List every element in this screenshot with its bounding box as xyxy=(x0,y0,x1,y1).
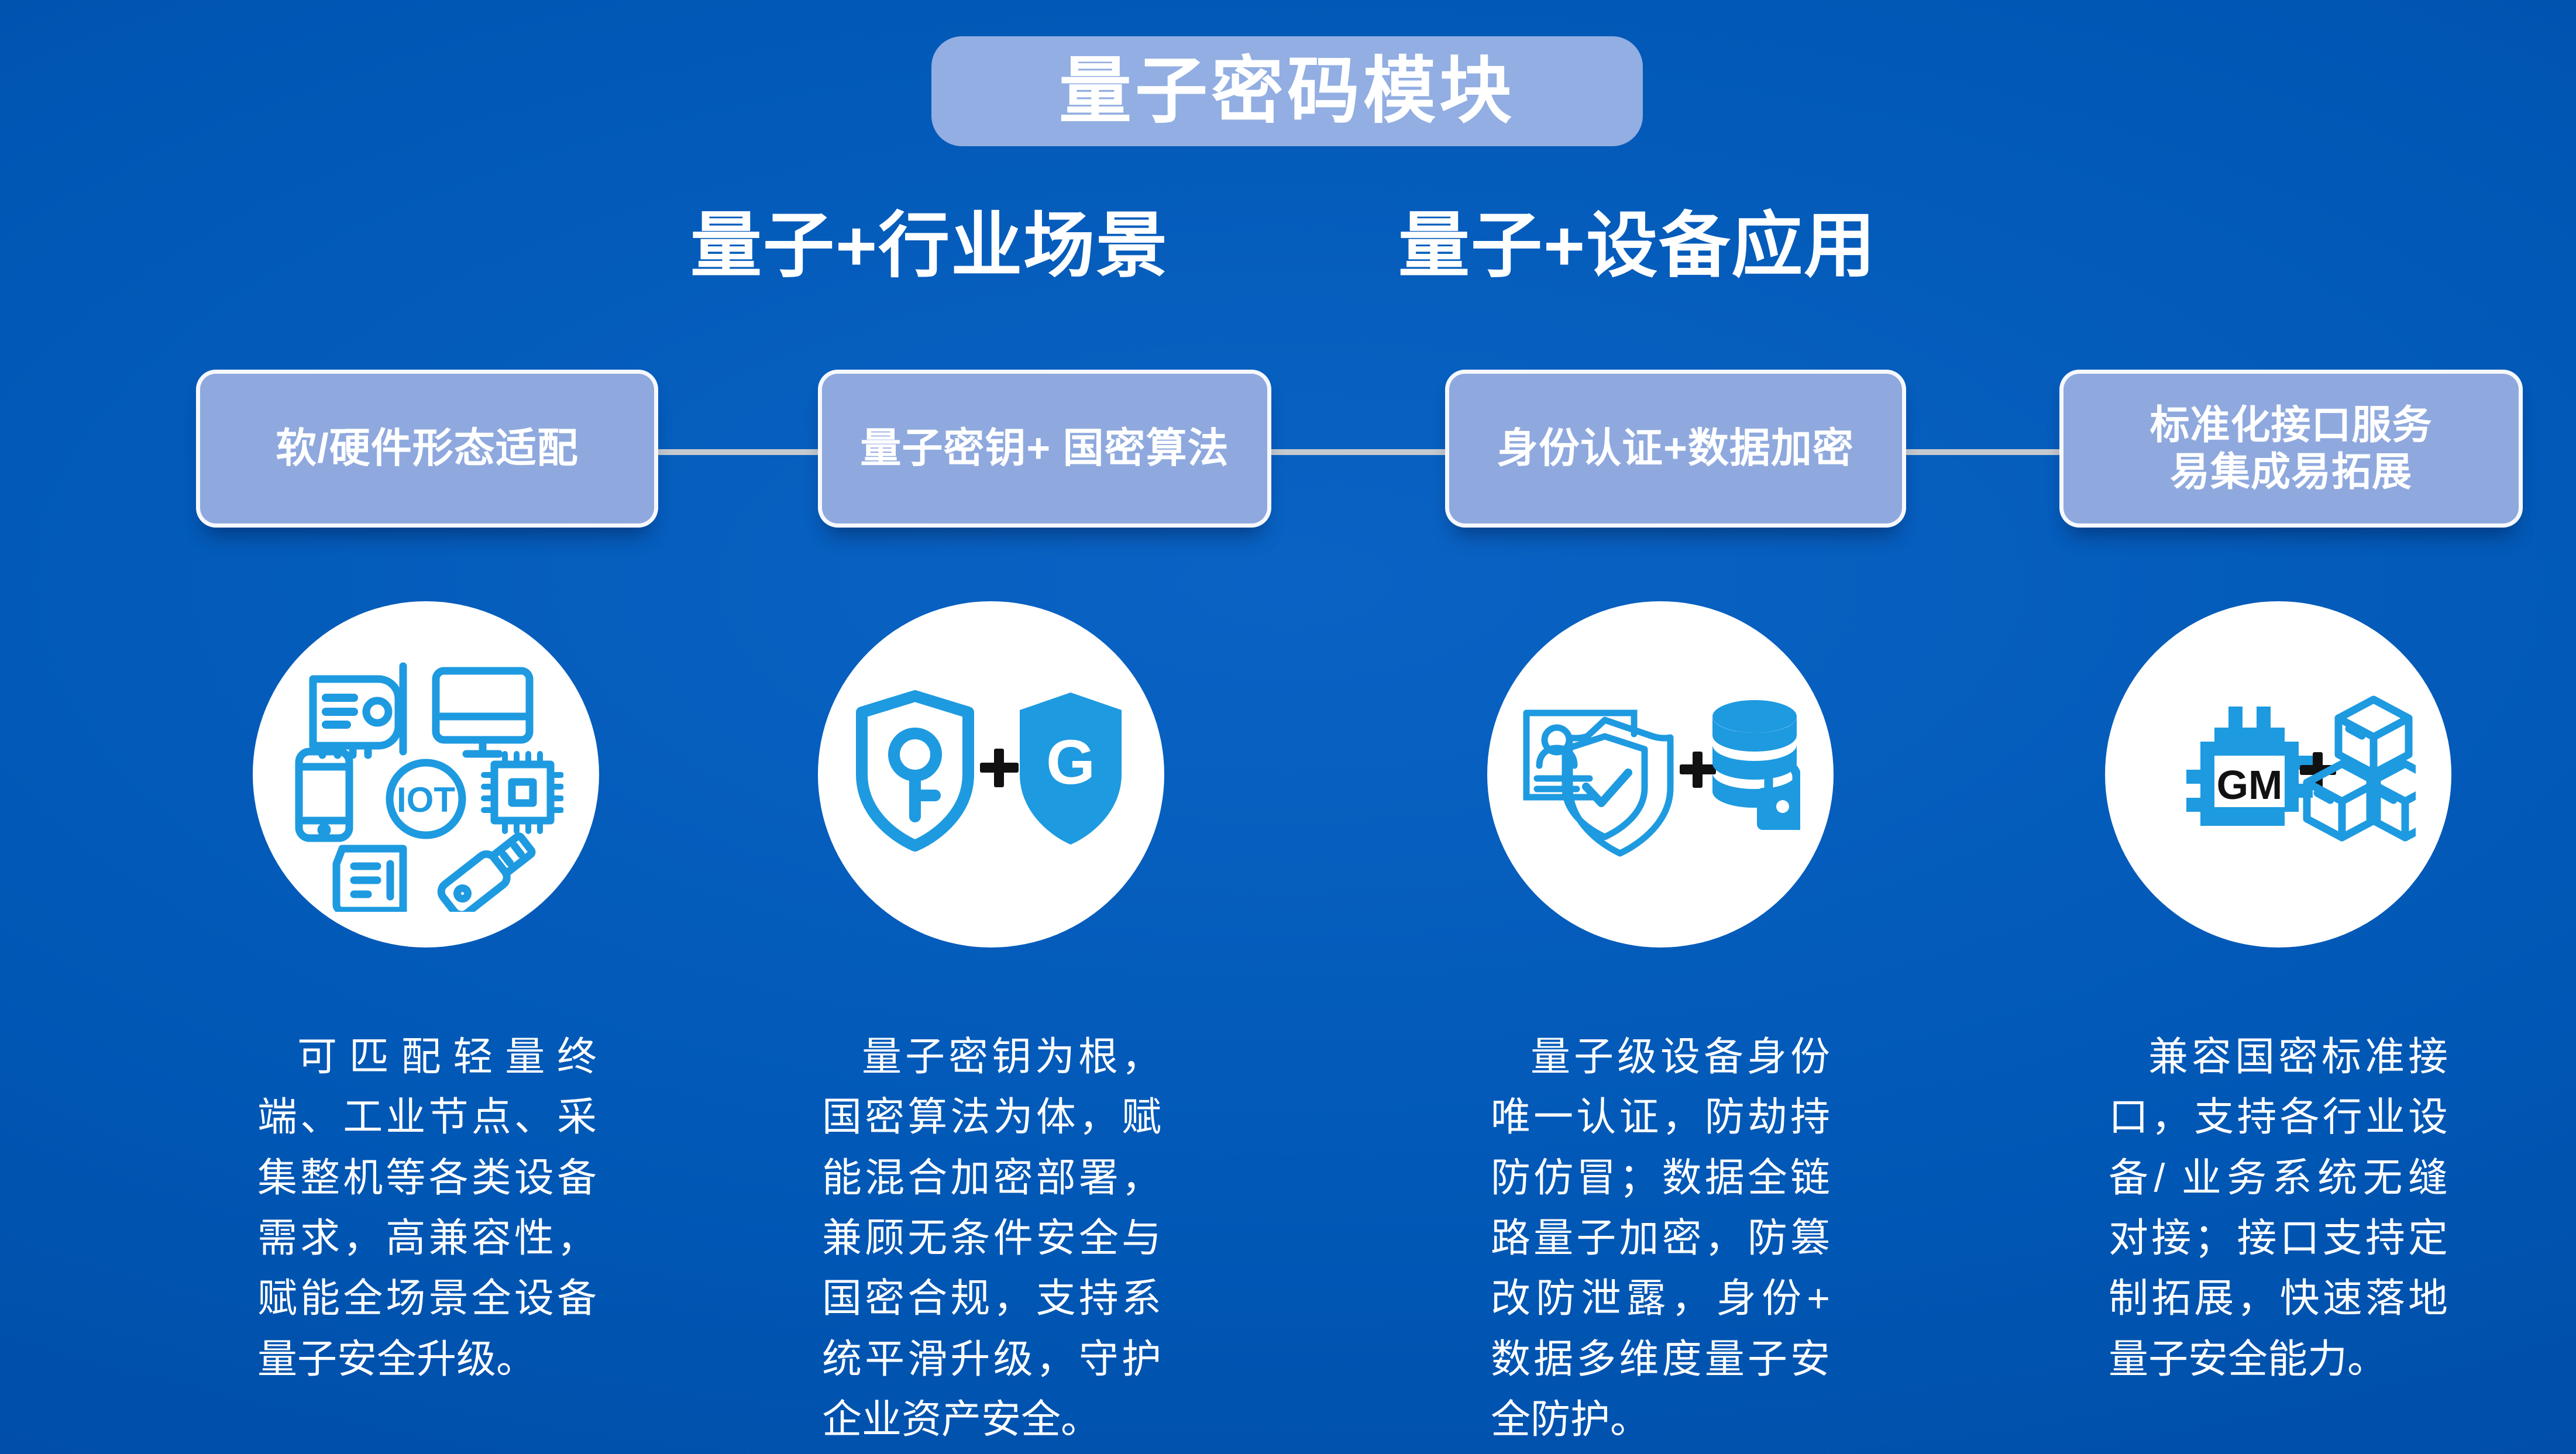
page-title-pill: 量子密码模块 xyxy=(931,36,1643,146)
gm-chip-icon: GM xyxy=(2186,707,2313,826)
gm-chip-plus-modules-icon: GM xyxy=(2141,687,2416,862)
key-shield-icon xyxy=(862,696,968,846)
icon-circle-identity-and-data xyxy=(1487,601,1834,947)
icon-circle-key-and-gm-shield: G xyxy=(818,601,1164,947)
id-shield-plus-database-lock-icon xyxy=(1521,690,1800,859)
connector-line-2 xyxy=(1264,449,1451,455)
pill-identity-auth-data-encryption[interactable]: 身份认证+数据加密 xyxy=(1445,370,1906,528)
plus-sign xyxy=(980,749,1019,787)
icon-circle-gm-and-modules: GM xyxy=(2105,601,2451,947)
database-lock-icon xyxy=(1712,700,1800,830)
gm-chip-label: GM xyxy=(2217,762,2283,808)
caption-identity-data: 量子级设备身份唯一认证，防劫持防仿冒；数据全链路量子加密，防篡改防泄露，身份+ … xyxy=(1491,1027,1830,1450)
page-title: 量子密码模块 xyxy=(1059,55,1515,128)
section-header-industry-scenarios: 量子+行业场景 xyxy=(690,205,1168,287)
pill-quantum-key-gm-algorithm[interactable]: 量子密钥+ 国密算法 xyxy=(818,370,1271,528)
slide-stage: 量子密码模块 量子+行业场景 量子+设备应用 软/硬件形态适配 量子密钥+ 国密… xyxy=(0,0,2576,1454)
check-shield-icon xyxy=(1565,720,1670,853)
pill-label-1: 软/硬件形态适配 xyxy=(276,423,578,473)
pill-label-4: 标准化接口服务 易集成易拓展 xyxy=(2149,402,2432,495)
key-shield-plus-gm-shield-icon: G xyxy=(854,687,1129,862)
g-shield-label: G xyxy=(1046,726,1095,797)
icon-circle-device-forms: IOT xyxy=(253,601,599,947)
pill-label-2: 量子密钥+ 国密算法 xyxy=(860,423,1229,473)
g-shield-icon: G xyxy=(1020,692,1122,845)
caption-quantum-key: 量子密钥为根，国密算法为体，赋能混合加密部署，兼顾无条件安全与国密合规，支持系统… xyxy=(822,1027,1161,1450)
caption-interface-service: 兼容国密标准接口，支持各行业设备/ 业务系统无缝对接；接口支持定制拓展，快速落地… xyxy=(2109,1027,2448,1390)
pill-standard-interface-service[interactable]: 标准化接口服务 易集成易拓展 xyxy=(2059,370,2523,528)
pill-label-3: 身份认证+数据加密 xyxy=(1497,423,1854,473)
connector-line-3 xyxy=(1899,449,2068,455)
caption-device-forms: 可匹配轻量终端、工业节点、采集整机等各类设备需求，高兼容性，赋能全场景全设备量子… xyxy=(257,1027,597,1390)
connector-line-1 xyxy=(651,449,826,455)
pill-software-hardware-adaptation[interactable]: 软/硬件形态适配 xyxy=(196,370,658,528)
section-header-device-applications: 量子+设备应用 xyxy=(1398,205,1876,287)
device-forms-icon: IOT xyxy=(288,637,563,912)
plus-sign xyxy=(1680,752,1716,788)
iot-badge-label: IOT xyxy=(397,780,455,819)
